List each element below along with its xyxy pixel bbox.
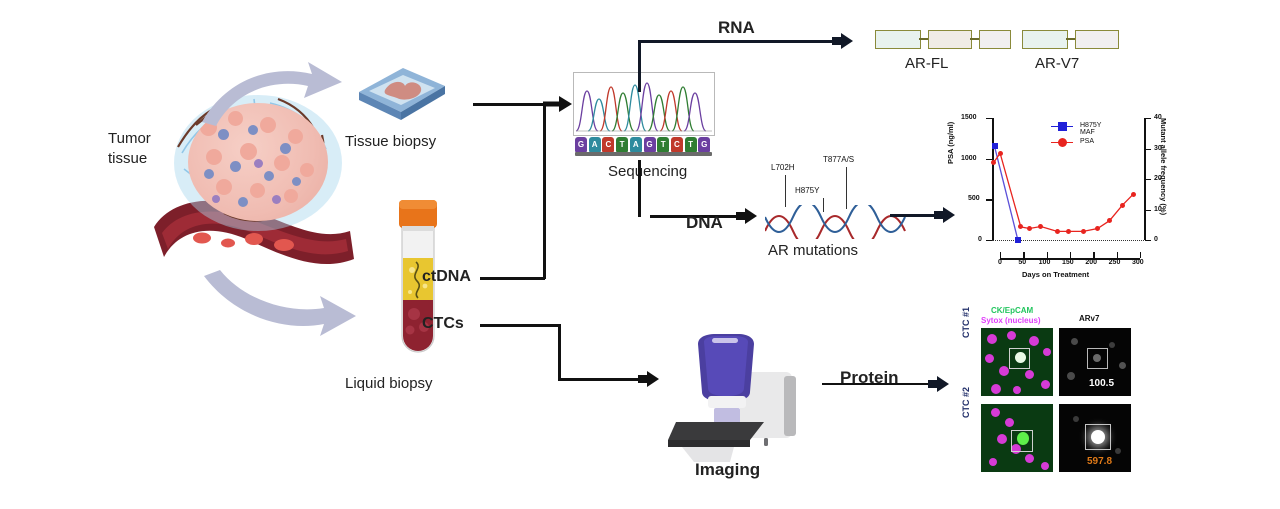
rna-branch-vertical — [638, 42, 641, 92]
data-point-maf — [992, 143, 998, 149]
mutation-label-h875y: H875Y — [795, 186, 819, 195]
arrow-head-to-chart — [934, 207, 956, 224]
chart-ytick-right — [1145, 179, 1151, 180]
arrow-head-to-microscope — [638, 371, 660, 388]
ctdna-connector-horizontal — [480, 277, 545, 280]
chart-ytick-left — [986, 199, 992, 200]
chart-ylabel-left: PSA (ng/ml) — [946, 122, 955, 164]
ctc-image-row1-fluorescence — [981, 328, 1053, 396]
chart-xtick — [1117, 252, 1118, 258]
tumor-tissue-label-line2: tissue — [108, 150, 147, 167]
rna-label: RNA — [718, 18, 755, 38]
exon-box — [875, 30, 921, 49]
arrow-head-dna — [736, 208, 758, 225]
ctc-connector-vertical — [558, 324, 561, 380]
chart-ytick-label-right: 0 — [1154, 236, 1158, 243]
chart-xtick-label: 0 — [998, 259, 1002, 266]
mutation-label-t877as: T877A/S — [823, 155, 854, 164]
chart-ytick-label-left: 1000 — [961, 155, 977, 162]
ctc-channel-label-sytox: Sytox (nucleus) — [981, 316, 1041, 325]
chart-ytick-right — [1145, 240, 1151, 241]
liquid-biopsy-label: Liquid biopsy — [345, 375, 433, 392]
chart-xtick — [1047, 252, 1048, 258]
ctdna-label: ctDNA — [422, 268, 471, 286]
protein-label: Protein — [840, 368, 899, 388]
data-point-psa — [998, 151, 1003, 156]
rna-branch-horizontal — [638, 40, 838, 43]
chart-xtick-label: 300 — [1132, 259, 1144, 266]
psa-maf-chart: Days on Treatment PSA (ng/ml) Mutant all… — [962, 112, 1177, 282]
data-point-psa — [1055, 229, 1060, 234]
transcript-ar-fl — [875, 30, 1000, 50]
data-point-psa — [1081, 229, 1086, 234]
sequence-base: C — [671, 137, 683, 152]
sequence-base: C — [602, 137, 614, 152]
ctc-row-label-1: CTC #1 — [961, 307, 971, 338]
ar-mutations-label: AR mutations — [768, 242, 858, 259]
chart-xtick-label: 100 — [1039, 259, 1051, 266]
mutation-label-l702h: L702H — [771, 163, 795, 172]
arrow-head-to-sequencing — [543, 95, 573, 113]
chart-xtick-label: 250 — [1109, 259, 1121, 266]
dna-label: DNA — [686, 213, 723, 233]
chart-ytick-label-right: 30 — [1154, 145, 1162, 152]
exon-box — [1022, 30, 1068, 49]
transcript-ar-fl-label: AR-FL — [905, 55, 948, 72]
chart-ytick-left — [986, 118, 992, 119]
chart-ytick-label-right: 10 — [1154, 206, 1162, 213]
chart-xtick — [1070, 252, 1071, 258]
tissue-biopsy-label: Tissue biopsy — [345, 133, 436, 150]
dna-double-helix-graphic — [765, 205, 915, 239]
ctc-row-label-2: CTC #2 — [961, 387, 971, 418]
chart-ytick-label-left: 1500 — [961, 114, 977, 121]
exon-connector — [970, 38, 979, 40]
data-point-psa — [1131, 192, 1136, 197]
ctc-connector-horizontal-upper — [480, 324, 560, 327]
ctc-connector-horizontal-lower — [558, 378, 644, 381]
chart-xtick — [1000, 252, 1001, 258]
sequence-base: G — [644, 137, 656, 152]
ctc-image-row2-arv7: 597.8 — [1059, 404, 1131, 472]
ctc-intensity-row2: 597.8 — [1087, 456, 1112, 467]
ctc-image-row2-fluorescence — [981, 404, 1053, 472]
arrow-helix-to-chart — [890, 214, 940, 217]
exon-box — [979, 30, 1011, 49]
data-point-psa — [1027, 226, 1032, 231]
tissue-biopsy-dish-icon — [345, 62, 450, 124]
chart-xtick — [1140, 252, 1141, 258]
chart-ytick-left — [986, 159, 992, 160]
sequence-base: T — [616, 137, 628, 152]
mutation-tick-h875y — [823, 198, 824, 212]
exon-box — [1075, 30, 1119, 49]
arrow-to-tissue-biopsy — [196, 60, 346, 130]
exon-connector — [919, 38, 928, 40]
chart-xtick-label: 200 — [1085, 259, 1097, 266]
chart-ytick-label-left: 500 — [968, 195, 980, 202]
sequence-base: T — [657, 137, 669, 152]
sequence-base: G — [575, 137, 587, 152]
base-track-plate — [575, 152, 712, 156]
ar-mutations-helix — [765, 205, 915, 239]
ctc-imaging-panel: CK/EpCAM Sytox (nucleus) ARv7 CTC #1 CTC… — [975, 322, 1135, 482]
chart-xtick-label: 150 — [1062, 259, 1074, 266]
mutation-tick-l702h — [785, 175, 786, 207]
arrow-head-rna — [832, 33, 854, 50]
microscope-icon — [668, 330, 818, 465]
chart-ytick-right — [1145, 210, 1151, 211]
tumor-tissue-label-line1: Tumor — [108, 130, 151, 147]
chart-ytick-label-right: 40 — [1154, 114, 1162, 121]
ctc-intensity-row1: 100.5 — [1089, 378, 1114, 389]
mutation-tick-t877as — [846, 167, 847, 209]
chart-ytick-label-left: 0 — [978, 236, 982, 243]
sequencing-chromatogram-panel — [573, 72, 715, 136]
ctc-channel-label-arv7: ARv7 — [1079, 314, 1099, 323]
chart-xtick-label: 50 — [1018, 259, 1026, 266]
chromatogram-traces — [574, 73, 714, 135]
ctc-image-row1-arv7: 100.5 — [1059, 328, 1131, 396]
data-point-psa — [1120, 203, 1125, 208]
sequencing-label: Sequencing — [608, 163, 687, 180]
sequence-base-track: GACTAGTCTG — [575, 137, 712, 157]
chart-xtick — [1023, 252, 1024, 258]
ctcs-label: CTCs — [422, 315, 464, 333]
chart-ytick-label-right: 20 — [1154, 175, 1162, 182]
sequence-base: A — [589, 137, 601, 152]
arrow-to-liquid-biopsy — [200, 270, 360, 345]
chart-ytick-left — [986, 240, 992, 241]
ctc-channel-label-ck-epcam: CK/EpCAM — [991, 306, 1033, 315]
imaging-label: Imaging — [695, 460, 760, 480]
sequence-base: A — [630, 137, 642, 152]
tissue-connector-horizontal — [473, 103, 545, 106]
data-point-maf — [1015, 237, 1021, 243]
dna-branch-vertical — [638, 160, 641, 217]
exon-connector — [1066, 38, 1075, 40]
sequence-base: T — [685, 137, 697, 152]
transcript-ar-v7 — [1022, 30, 1114, 50]
arrow-head-protein — [928, 376, 950, 393]
transcript-ar-v7-label: AR-V7 — [1035, 55, 1079, 72]
chart-xtick — [1093, 252, 1094, 258]
sequence-base: G — [698, 137, 710, 152]
exon-box — [928, 30, 972, 49]
ctdna-connector-vertical — [543, 103, 546, 279]
chart-ytick-right — [1145, 149, 1151, 150]
chart-ytick-right — [1145, 118, 1151, 119]
